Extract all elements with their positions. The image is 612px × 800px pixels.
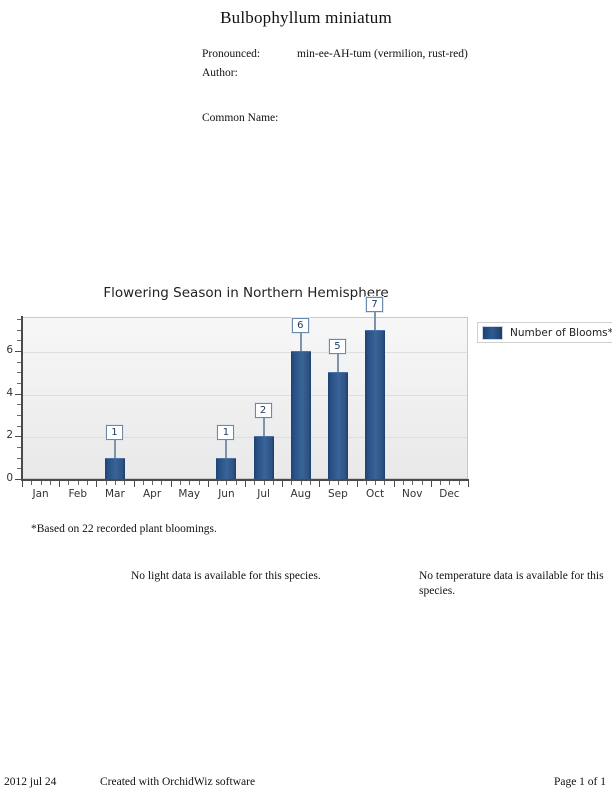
chart-bar-highlight	[328, 372, 348, 373]
chart-y-tick-label: 2	[0, 429, 13, 441]
chart-x-tick-minor	[329, 481, 330, 485]
chart-data-label-value: 5	[329, 339, 346, 354]
chart-y-tick	[17, 468, 21, 469]
chart-x-tick-label: Jan	[21, 488, 61, 500]
chart-bar	[328, 372, 348, 479]
chart-x-tick-label: Oct	[355, 488, 395, 500]
chart-gridline	[23, 352, 467, 353]
chart-y-tick	[15, 436, 21, 437]
chart-y-tick-label: 6	[0, 344, 13, 356]
chart-y-tick	[17, 330, 21, 331]
chart-x-tick-minor	[310, 481, 311, 485]
chart-y-tick	[17, 415, 21, 416]
chart-footnote: *Based on 22 recorded plant bloomings.	[31, 523, 217, 535]
chart-x-tick-minor	[403, 481, 404, 485]
chart-x-tick-minor	[347, 481, 348, 485]
field-pronounced-value: min-ee-AH-tum (vermilion, rust-red)	[297, 47, 468, 61]
chart-x-tick	[245, 481, 246, 487]
chart-x-tick-minor	[412, 481, 413, 485]
chart-data-label-stem	[225, 440, 227, 458]
chart-plot-area	[22, 317, 468, 479]
chart-bar	[291, 351, 311, 479]
chart-x-tick	[171, 481, 172, 487]
chart-y-tick	[15, 394, 21, 395]
footer-page-number: Page 1 of 1	[554, 776, 606, 788]
chart-data-label-value: 6	[292, 318, 309, 333]
chart-x-tick-label: Nov	[392, 488, 432, 500]
chart-data-label-stem	[300, 333, 302, 351]
chart-bar	[365, 330, 385, 479]
footer-date: 2012 jul 24	[4, 776, 56, 788]
chart-gridline	[23, 437, 467, 438]
chart-data-label-stem	[374, 312, 376, 330]
chart-x-tick-minor	[384, 481, 385, 485]
chart-x-tick-minor	[152, 481, 153, 485]
chart-bar-highlight	[254, 436, 274, 437]
chart-x-tick-minor	[50, 481, 51, 485]
chart-x-tick-minor	[301, 481, 302, 485]
chart-x-tick	[394, 481, 395, 487]
chart-x-tick-minor	[199, 481, 200, 485]
flowering-season-chart: Flowering Season in Northern Hemisphere …	[0, 285, 612, 525]
chart-x-tick-label: Apr	[132, 488, 172, 500]
footer-credit: Created with OrchidWiz software	[100, 776, 255, 788]
field-common-name: Common Name:	[202, 111, 602, 127]
field-common-name-label: Common Name:	[202, 111, 278, 125]
chart-data-label-stem	[263, 418, 265, 436]
chart-x-tick-minor	[226, 481, 227, 485]
chart-bar-highlight	[105, 458, 125, 459]
chart-y-tick	[17, 404, 21, 405]
field-pronounced: Pronounced: min-ee-AH-tum (vermilion, ru…	[202, 47, 602, 63]
chart-y-axis	[21, 316, 23, 480]
page-title: Bulbophyllum miniatum	[0, 8, 612, 28]
chart-x-tick-minor	[41, 481, 42, 485]
chart-x-tick-minor	[143, 481, 144, 485]
chart-x-tick-label: Dec	[429, 488, 469, 500]
chart-data-label-value: 1	[217, 425, 234, 440]
chart-x-tick-label: Mar	[95, 488, 135, 500]
chart-x-tick-label: Sep	[318, 488, 358, 500]
chart-x-tick-minor	[31, 481, 32, 485]
chart-x-tick-minor	[78, 481, 79, 485]
chart-bar-highlight	[216, 458, 236, 459]
chart-x-tick-minor	[115, 481, 116, 485]
chart-x-tick-label: Feb	[58, 488, 98, 500]
chart-y-tick	[17, 362, 21, 363]
chart-x-tick	[357, 481, 358, 487]
chart-data-label-stem	[337, 354, 339, 372]
chart-x-tick	[96, 481, 97, 487]
page-footer: 2012 jul 24 Created with OrchidWiz softw…	[0, 776, 612, 794]
chart-bar	[105, 458, 125, 479]
chart-x-tick-minor	[124, 481, 125, 485]
chart-x-tick-minor	[217, 481, 218, 485]
chart-x-tick-minor	[87, 481, 88, 485]
chart-x-tick-minor	[366, 481, 367, 485]
chart-x-tick-minor	[180, 481, 181, 485]
chart-x-tick	[431, 481, 432, 487]
chart-x-tick	[22, 481, 23, 487]
chart-y-tick	[17, 319, 21, 320]
chart-gridline	[23, 395, 467, 396]
chart-x-tick-minor	[375, 481, 376, 485]
chart-legend: Number of Blooms*	[477, 322, 612, 343]
chart-x-tick	[319, 481, 320, 487]
chart-data-label-value: 1	[106, 425, 123, 440]
chart-x-tick	[282, 481, 283, 487]
legend-label-number-of-blooms: Number of Blooms*	[510, 327, 612, 339]
chart-x-tick-minor	[189, 481, 190, 485]
light-data-note: No light data is available for this spec…	[131, 569, 321, 584]
chart-y-tick	[15, 351, 21, 352]
chart-y-tick	[17, 426, 21, 427]
chart-y-tick	[15, 479, 21, 480]
field-author-label: Author:	[202, 66, 238, 80]
chart-bar-highlight	[365, 330, 385, 331]
chart-x-tick-label: Aug	[281, 488, 321, 500]
chart-x-tick-minor	[422, 481, 423, 485]
chart-x-tick-minor	[236, 481, 237, 485]
chart-data-label-value: 2	[255, 403, 272, 418]
chart-x-tick-minor	[449, 481, 450, 485]
chart-x-tick-minor	[459, 481, 460, 485]
chart-y-tick	[17, 372, 21, 373]
chart-x-tick-label: Jul	[244, 488, 284, 500]
chart-x-tick-minor	[106, 481, 107, 485]
chart-x-tick	[134, 481, 135, 487]
chart-x-tick-minor	[161, 481, 162, 485]
chart-bar-highlight	[291, 351, 311, 352]
chart-x-tick-label: Jun	[206, 488, 246, 500]
chart-y-tick	[17, 383, 21, 384]
legend-swatch-number-of-blooms	[482, 326, 503, 340]
chart-x-tick-minor	[273, 481, 274, 485]
chart-x-tick-minor	[264, 481, 265, 485]
chart-y-tick-label: 0	[0, 472, 13, 484]
chart-y-tick-label: 4	[0, 387, 13, 399]
chart-x-tick	[208, 481, 209, 487]
field-author: Author:	[202, 66, 602, 82]
chart-data-label-stem	[114, 440, 116, 458]
chart-x-tick-minor	[68, 481, 69, 485]
chart-x-tick-minor	[338, 481, 339, 485]
chart-x-tick-minor	[440, 481, 441, 485]
chart-bar	[254, 436, 274, 479]
chart-x-tick-minor	[254, 481, 255, 485]
chart-x-tick-label: May	[169, 488, 209, 500]
chart-x-tick	[59, 481, 60, 487]
temperature-data-note: No temperature data is available for thi…	[419, 569, 609, 599]
chart-y-tick	[17, 340, 21, 341]
chart-data-label-value: 7	[366, 297, 383, 312]
chart-y-tick	[17, 447, 21, 448]
chart-x-tick-minor	[291, 481, 292, 485]
chart-bar	[216, 458, 236, 479]
chart-y-tick	[17, 458, 21, 459]
field-pronounced-label: Pronounced:	[202, 47, 260, 61]
chart-title: Flowering Season in Northern Hemisphere	[22, 285, 470, 301]
chart-x-tick	[468, 481, 469, 487]
